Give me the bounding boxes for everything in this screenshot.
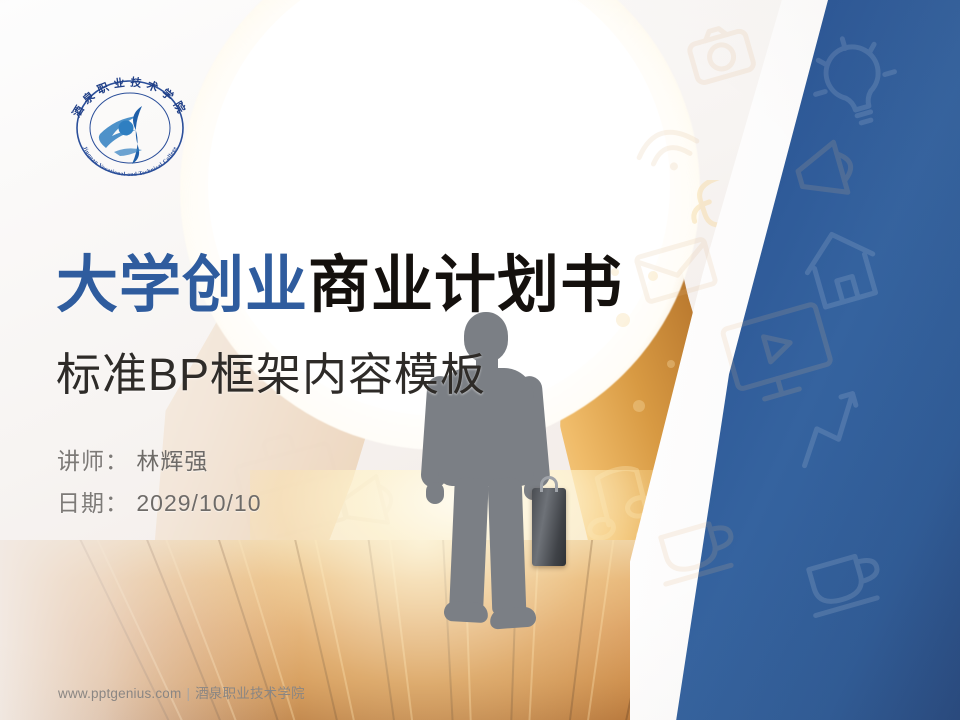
title-slide: 酒泉职业技术学院 Jiuquan Vocational and Technica…	[0, 0, 960, 720]
presenter-label: 讲师：	[57, 448, 129, 474]
footer: www.pptgenius.com|酒泉职业技术学院	[58, 682, 305, 702]
footer-separator: |	[186, 686, 190, 701]
camera-icon	[686, 22, 755, 84]
title-plain-text: 商业计划书	[308, 251, 623, 320]
footer-organization: 酒泉职业技术学院	[195, 686, 305, 701]
college-logo: 酒泉职业技术学院 Jiuquan Vocational and Technica…	[56, 74, 204, 182]
date-label: 日期：	[57, 490, 129, 516]
page-title: 大学创业商业计划书	[56, 255, 623, 317]
footer-site-url[interactable]: www.pptgenius.com	[58, 686, 181, 701]
envelope-icon	[636, 239, 716, 303]
monitor-icon	[722, 304, 836, 405]
coffee-cup-icon	[653, 519, 739, 584]
title-accent-text: 大学创业	[56, 251, 308, 320]
dark-field-doodle-icons	[540, 0, 960, 720]
presenter-row: 讲师： 林辉强	[57, 440, 262, 482]
date-row: 日期： 2029/10/10	[57, 482, 262, 524]
presenter-value: 林辉强	[136, 448, 208, 474]
wifi-icon	[634, 125, 702, 179]
page-subtitle: 标准BP框架内容模板	[56, 352, 486, 397]
college-seal-icon: 酒泉职业技术学院 Jiuquan Vocational and Technica…	[56, 74, 204, 182]
date-value: 2029/10/10	[136, 490, 261, 516]
presentation-meta: 讲师： 林辉强 日期： 2029/10/10	[57, 440, 262, 524]
megaphone-icon	[793, 140, 857, 204]
